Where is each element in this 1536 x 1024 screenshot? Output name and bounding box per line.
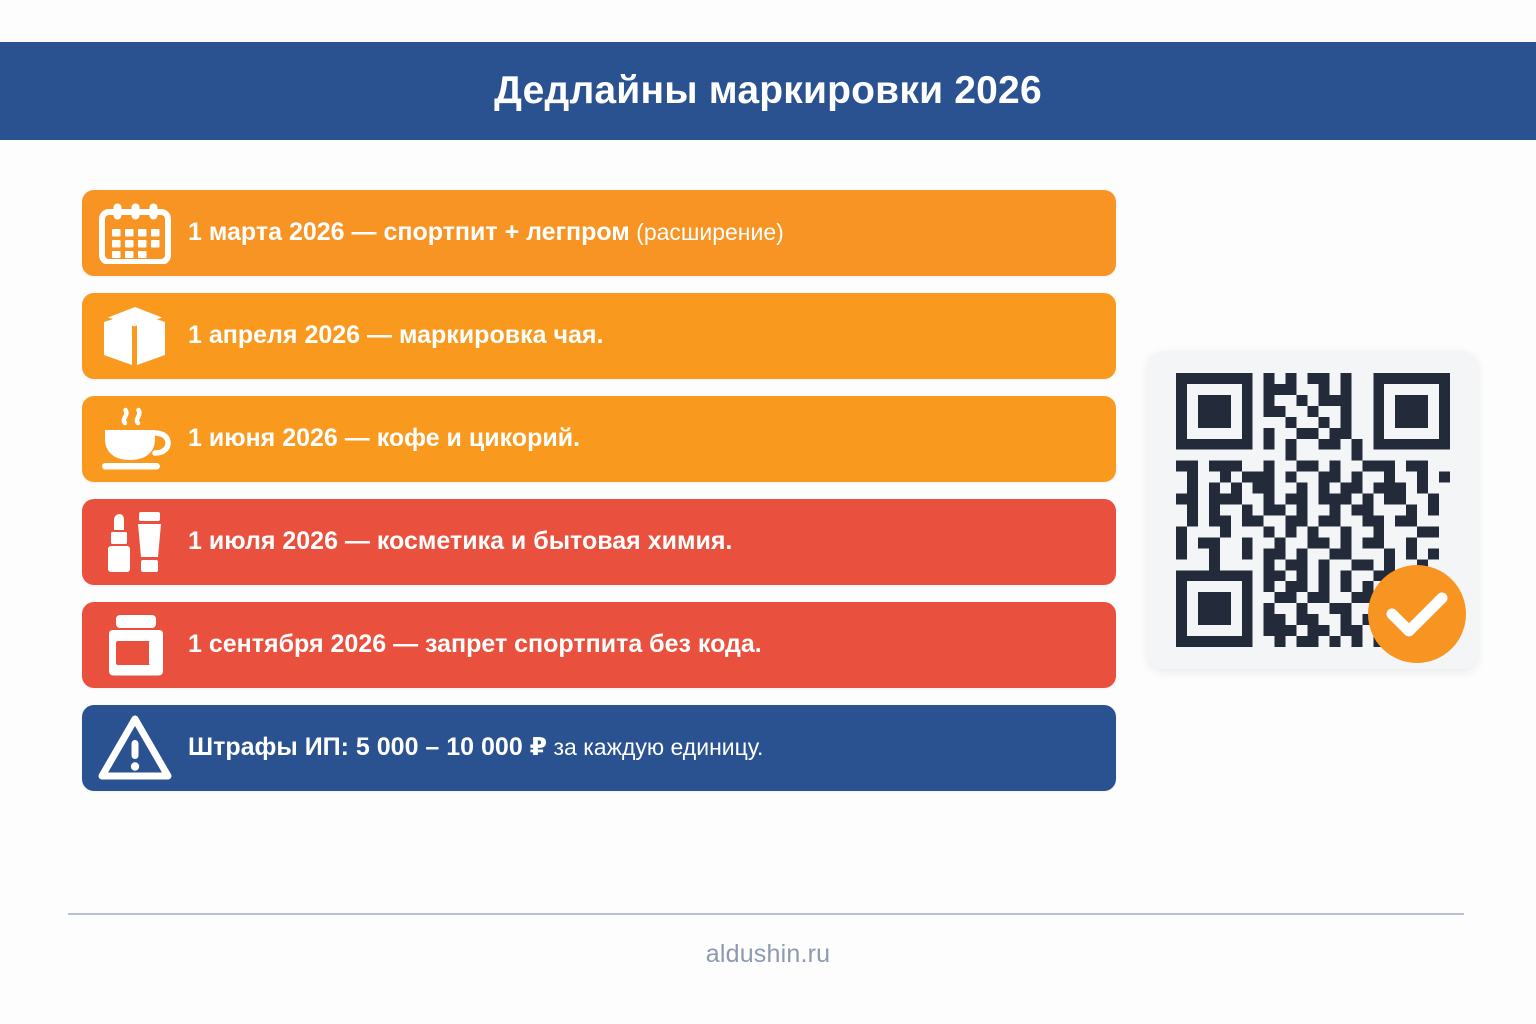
deadline-list: 1 марта 2026 — спортпит + легпром (расши… <box>82 190 1116 808</box>
deadline-row-tea[interactable]: 1 апреля 2026 — маркировка чая. <box>82 293 1116 379</box>
penalty-light-text: за каждую единицу. <box>547 734 763 760</box>
deadline-row-cosmetics[interactable]: 1 июля 2026 — косметика и бытовая химия. <box>82 499 1116 585</box>
penalty-row-text: Штрафы ИП: 5 000 – 10 000 ₽ за каждую ед… <box>188 734 781 762</box>
deadline-row-text: 1 июля 2026 — косметика и бытовая химия. <box>188 528 750 556</box>
qr-code-card[interactable] <box>1148 351 1478 669</box>
header-band: Дедлайны маркировки 2026 <box>0 42 1536 140</box>
deadline-strong-text: 1 сентября 2026 — запрет спортпита без к… <box>188 630 762 658</box>
penalty-row[interactable]: Штрафы ИП: 5 000 – 10 000 ₽ за каждую ед… <box>82 705 1116 791</box>
deadline-row-coffee[interactable]: 1 июня 2026 — кофе и цикорий. <box>82 396 1116 482</box>
supplement-jar-icon <box>82 602 188 688</box>
deadline-row-text: 1 сентября 2026 — запрет спортпита без к… <box>188 631 780 659</box>
check-mark-icon <box>1368 565 1466 663</box>
deadline-strong-text: 1 июля 2026 — косметика и бытовая химия. <box>188 527 732 555</box>
calendar-icon <box>82 190 188 276</box>
cosmetics-icon <box>82 499 188 585</box>
deadline-light-text: (расширение) <box>630 219 784 245</box>
deadline-strong-text: 1 июня 2026 — кофе и цикорий. <box>188 424 580 452</box>
deadline-row-sportpit-legprom[interactable]: 1 марта 2026 — спортпит + легпром (расши… <box>82 190 1116 276</box>
deadline-row-text: 1 июня 2026 — кофе и цикорий. <box>188 425 598 453</box>
warning-triangle-icon <box>82 705 188 791</box>
deadline-row-text: 1 апреля 2026 — маркировка чая. <box>188 322 621 350</box>
deadline-row-text: 1 марта 2026 — спортпит + легпром (расши… <box>188 219 802 247</box>
deadline-row-supplements[interactable]: 1 сентября 2026 — запрет спортпита без к… <box>82 602 1116 688</box>
coffee-cup-icon <box>82 396 188 482</box>
penalty-strong-text: Штрафы ИП: 5 000 – 10 000 ₽ <box>188 733 547 761</box>
page-title: Дедлайны маркировки 2026 <box>494 69 1042 113</box>
package-box-icon <box>82 293 188 379</box>
footer-site-label: aldushin.ru <box>0 940 1536 969</box>
deadline-strong-text: 1 апреля 2026 — маркировка чая. <box>188 321 603 349</box>
infographic-page: Дедлайны маркировки 2026 <box>0 0 1536 1024</box>
deadline-strong-text: 1 марта 2026 — спортпит + легпром <box>188 218 630 246</box>
footer-divider <box>68 913 1464 915</box>
